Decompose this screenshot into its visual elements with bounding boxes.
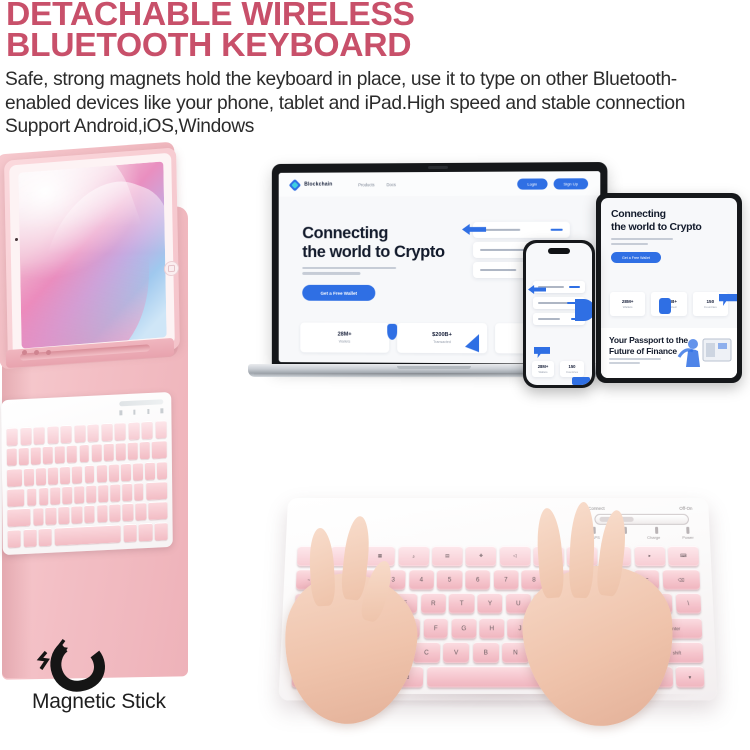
blue-accent-shape bbox=[572, 377, 590, 385]
blue-arrow-right bbox=[575, 299, 592, 321]
hero-heading-line2: the world to Crypto bbox=[302, 243, 444, 261]
magnetic-stick-label: Magnetic Stick bbox=[32, 690, 197, 714]
signup-button[interactable]: Sign Up bbox=[553, 178, 588, 189]
key-6[interactable]: 6 bbox=[465, 569, 490, 589]
phone-device: 28M+ Wallets 150 Countries bbox=[523, 240, 595, 388]
wallet-row-panel bbox=[473, 222, 570, 238]
phone-screen: 28M+ Wallets 150 Countries bbox=[526, 243, 592, 385]
tablet-footer-section: Your Passport to the Future of Finance bbox=[601, 328, 737, 378]
stat-value: $200B+ bbox=[432, 332, 452, 338]
key-y[interactable]: Y bbox=[478, 593, 503, 614]
stat-label: Countries bbox=[566, 370, 578, 374]
slot-dot bbox=[34, 349, 39, 354]
connect-label: Connect bbox=[588, 506, 605, 511]
stat-value: 150 bbox=[706, 299, 714, 304]
key-backslash[interactable]: \ bbox=[675, 593, 701, 614]
power-label: Power bbox=[682, 535, 694, 540]
tablet-hero-line2: the world to Crypto bbox=[611, 221, 702, 233]
tablet-hero-line1: Connecting bbox=[611, 208, 666, 220]
key-f[interactable]: F bbox=[423, 617, 448, 638]
key-fn[interactable]: ◁ bbox=[500, 546, 530, 566]
stat-value: 28M+ bbox=[538, 364, 549, 369]
hero-heading-line1: Connecting bbox=[302, 224, 388, 242]
tablet-hero-heading: Connecting the world to Crypto bbox=[611, 208, 702, 233]
keyboard-switch-strip[interactable] bbox=[119, 399, 163, 406]
stat-label: Countries bbox=[704, 305, 717, 309]
stat-value: 28M+ bbox=[338, 332, 352, 338]
charge-label: Charge bbox=[647, 535, 660, 540]
stat-label: Wallets bbox=[339, 340, 351, 344]
stat-card: 28M+ Wallets bbox=[300, 323, 389, 353]
power-switch-label: Off-On bbox=[679, 506, 692, 511]
phone-body: 28M+ Wallets 150 Countries bbox=[523, 240, 595, 388]
key-5[interactable]: 5 bbox=[437, 569, 462, 589]
key-t[interactable]: T bbox=[449, 593, 474, 614]
product-marketing-image: DETACHABLE WIRELESS BLUETOOTH KEYBOARD S… bbox=[0, 0, 750, 750]
nav-link-docs[interactable]: Docs bbox=[386, 182, 395, 187]
login-button[interactable]: Login bbox=[517, 178, 547, 189]
nav-link-products[interactable]: Products bbox=[358, 182, 374, 187]
phone-stat-card: 28M+ Wallets bbox=[532, 361, 554, 377]
blue-chat-shape bbox=[534, 347, 550, 358]
tablet-screen-right: Connecting the world to Crypto Get a Fre… bbox=[601, 198, 737, 378]
key-fn[interactable]: ⌕ bbox=[398, 546, 429, 566]
magnetic-feature-group: Magnetic Stick bbox=[28, 628, 198, 733]
tablet-body: Connecting the world to Crypto Get a Fre… bbox=[596, 193, 742, 383]
site-nav-links: Products Docs bbox=[358, 182, 396, 187]
tablet-cta-button[interactable]: Get a Free Wallet bbox=[611, 252, 661, 263]
page-title: DETACHABLE WIRELESS BLUETOOTH KEYBOARD bbox=[6, 0, 750, 60]
blockchain-logo-icon bbox=[289, 178, 301, 191]
hero-paragraph-placeholder bbox=[302, 267, 396, 278]
keyboard-indicator-leds bbox=[119, 408, 163, 416]
small-keyboard-rows bbox=[6, 420, 167, 549]
hero-cta-button[interactable]: Get a Free Wallet bbox=[302, 285, 375, 301]
description-text: Safe, strong magnets hold the keyboard i… bbox=[5, 68, 742, 139]
key-g[interactable]: G bbox=[451, 617, 476, 638]
key-7[interactable]: 7 bbox=[494, 569, 519, 589]
key-h[interactable]: H bbox=[480, 617, 505, 638]
key-r[interactable]: R bbox=[421, 593, 446, 614]
finance-illustration-icon bbox=[677, 331, 733, 377]
horseshoe-magnet-icon bbox=[28, 628, 148, 698]
phone-dynamic-island bbox=[548, 248, 570, 254]
tablet-device-right: Connecting the world to Crypto Get a Fre… bbox=[596, 193, 742, 383]
key-v[interactable]: V bbox=[443, 642, 469, 663]
title-line-2: BLUETOOTH KEYBOARD bbox=[6, 29, 750, 60]
stat-label: Transacted bbox=[433, 340, 451, 344]
key-arrow-down[interactable]: ▼ bbox=[675, 666, 704, 687]
site-logo-text: Blockchain bbox=[304, 182, 332, 188]
detached-keyboard-small bbox=[1, 392, 173, 555]
key-c[interactable]: C bbox=[413, 642, 439, 663]
tablet-wallpaper-screen bbox=[18, 161, 166, 348]
key-fn[interactable]: ❖ bbox=[466, 546, 496, 566]
site-navbar: Blockchain Products Docs Login Sign Up bbox=[279, 171, 601, 197]
slot-dot bbox=[46, 349, 51, 354]
stat-card: 28M+ Wallets bbox=[610, 292, 645, 316]
site-nav-buttons: Login Sign Up bbox=[517, 178, 588, 189]
hero-heading: Connecting the world to Crypto bbox=[302, 224, 444, 262]
tablet-paragraph-placeholder bbox=[611, 238, 673, 247]
key-backspace[interactable]: ⌫ bbox=[662, 569, 700, 589]
tablet-case-group bbox=[0, 148, 200, 678]
key-fn[interactable]: ▤ bbox=[432, 546, 463, 566]
switch-labels: Connect Off-On bbox=[588, 506, 692, 511]
laptop-camera-notch bbox=[428, 166, 448, 169]
key-fn[interactable]: ⌨ bbox=[668, 546, 699, 566]
stat-label: Wallets bbox=[623, 305, 633, 309]
large-keyboard-group: Connect Off-On CAPS ✶ Charge Power ⌂ ☀ ▦ bbox=[288, 498, 708, 710]
tablet-footer-paragraph bbox=[609, 358, 661, 366]
key-fn[interactable]: ▸ bbox=[634, 546, 665, 566]
slot-dot bbox=[22, 349, 27, 354]
stat-label: Wallets bbox=[538, 370, 547, 374]
blue-accent-shape bbox=[387, 324, 397, 340]
phone-stat-card: 150 Countries bbox=[560, 361, 584, 377]
blue-accent-shape bbox=[659, 298, 671, 314]
key-b[interactable]: B bbox=[473, 642, 499, 663]
footer-line2: Future of Finance bbox=[609, 346, 677, 356]
stat-value: 150 bbox=[569, 364, 576, 369]
key-4[interactable]: 4 bbox=[409, 569, 434, 589]
stat-value: 28M+ bbox=[622, 299, 634, 304]
